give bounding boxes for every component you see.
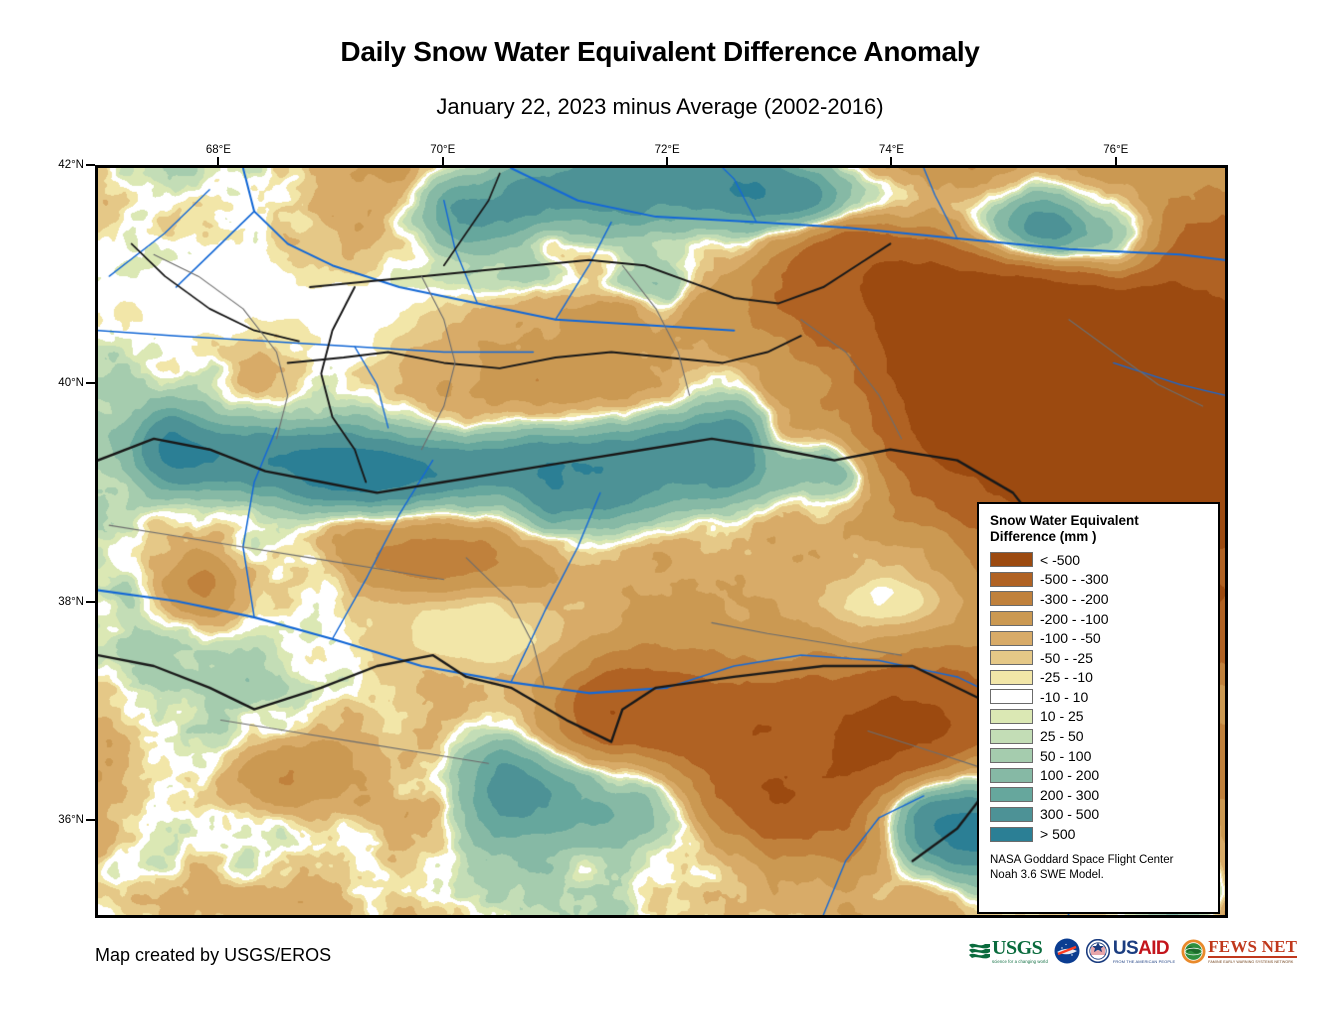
legend-color-swatch <box>990 631 1033 646</box>
legend-class-label: -500 - -300 <box>1040 571 1108 587</box>
lon-tick-label: 76°E <box>1103 144 1128 156</box>
legend-class-label: 50 - 100 <box>1040 748 1091 764</box>
lon-tick-mark <box>666 157 668 166</box>
usgs-logo: USGS science for a changing world <box>968 937 1048 965</box>
fews-globe-icon <box>1181 939 1206 964</box>
legend-row: -25 - -10 <box>990 668 1208 688</box>
page-title: Daily Snow Water Equivalent Difference A… <box>0 36 1320 68</box>
legend-class-label: -10 - 10 <box>1040 689 1088 705</box>
legend-class-label: -200 - -100 <box>1040 611 1108 627</box>
legend-class-label: 300 - 500 <box>1040 806 1099 822</box>
legend-row: < -500 <box>990 550 1208 570</box>
legend-row: 300 - 500 <box>990 805 1208 825</box>
legend-color-swatch <box>990 650 1033 665</box>
footer-credit: Map created by USGS/EROS <box>95 945 331 966</box>
legend-class-label: -100 - -50 <box>1040 630 1101 646</box>
lon-tick-mark <box>442 157 444 166</box>
lat-tick-mark <box>86 819 95 821</box>
legend-class-label: 100 - 200 <box>1040 767 1099 783</box>
usaid-seal-icon <box>1086 939 1110 963</box>
lat-tick-label: 40°N <box>40 377 84 389</box>
legend-row: 200 - 300 <box>990 785 1208 805</box>
fews-net-logo: FEWS NET FAMINE EARLY WARNING SYSTEMS NE… <box>1181 937 1297 965</box>
usaid-tagline: FROM THE AMERICAN PEOPLE <box>1113 959 1175 964</box>
usaid-wordmark-aid: AID <box>1138 938 1169 959</box>
lat-tick-mark <box>86 601 95 603</box>
legend-panel: Snow Water Equivalent Difference (mm ) <… <box>977 502 1220 914</box>
fews-net-tagline: FAMINE EARLY WARNING SYSTEMS NETWORK <box>1208 960 1297 964</box>
usaid-wordmark-us: US <box>1113 938 1138 959</box>
legend-color-swatch <box>990 807 1033 822</box>
fews-net-rule <box>1208 956 1297 958</box>
legend-class-label: > 500 <box>1040 826 1075 842</box>
lon-tick-mark <box>890 157 892 166</box>
legend-class-list: < -500-500 - -300-300 - -200-200 - -100-… <box>990 550 1208 844</box>
legend-class-label: -300 - -200 <box>1040 591 1108 607</box>
legend-color-swatch <box>990 572 1033 587</box>
legend-color-swatch <box>990 709 1033 724</box>
lat-tick-label: 36°N <box>40 814 84 826</box>
lat-tick-mark <box>86 382 95 384</box>
usgs-wave-icon <box>968 941 992 961</box>
legend-row: -200 - -100 <box>990 609 1208 629</box>
legend-color-swatch <box>990 827 1033 842</box>
legend-row: 50 - 100 <box>990 746 1208 766</box>
lon-tick-mark <box>1115 157 1117 166</box>
lon-tick-label: 68°E <box>206 144 231 156</box>
legend-source-note: NASA Goddard Space Flight Center Noah 3.… <box>990 853 1208 882</box>
page-subtitle: January 22, 2023 minus Average (2002-201… <box>0 94 1320 120</box>
lat-tick-mark <box>86 164 95 166</box>
lon-tick-label: 70°E <box>430 144 455 156</box>
fews-net-wordmark: FEWS NET <box>1208 938 1297 955</box>
lon-tick-label: 72°E <box>655 144 680 156</box>
legend-row: -10 - 10 <box>990 687 1208 707</box>
legend-row: -100 - -50 <box>990 628 1208 648</box>
legend-row: -300 - -200 <box>990 589 1208 609</box>
legend-row: -500 - -300 <box>990 570 1208 590</box>
lat-tick-label: 38°N <box>40 596 84 608</box>
legend-row: > 500 <box>990 824 1208 844</box>
legend-color-swatch <box>990 787 1033 802</box>
legend-class-label: 200 - 300 <box>1040 787 1099 803</box>
logo-bar: USGS science for a changing world USAID … <box>968 936 1297 966</box>
legend-class-label: -50 - -25 <box>1040 650 1093 666</box>
legend-class-label: 10 - 25 <box>1040 708 1084 724</box>
nasa-logo <box>1054 937 1080 965</box>
nasa-meatball-icon <box>1054 938 1080 964</box>
legend-row: 25 - 50 <box>990 726 1208 746</box>
legend-color-swatch <box>990 729 1033 744</box>
legend-color-swatch <box>990 591 1033 606</box>
legend-color-swatch <box>990 552 1033 567</box>
legend-color-swatch <box>990 611 1033 626</box>
legend-color-swatch <box>990 768 1033 783</box>
usgs-tagline: science for a changing world <box>992 959 1048 964</box>
usgs-wordmark: USGS <box>992 938 1048 958</box>
legend-row: -50 - -25 <box>990 648 1208 668</box>
usaid-logo: USAID FROM THE AMERICAN PEOPLE <box>1086 937 1175 965</box>
legend-class-label: 25 - 50 <box>1040 728 1084 744</box>
legend-title: Snow Water Equivalent Difference (mm ) <box>990 513 1208 546</box>
lat-tick-label: 42°N <box>40 159 84 171</box>
lon-tick-label: 74°E <box>879 144 904 156</box>
legend-class-label: < -500 <box>1040 552 1080 568</box>
legend-color-swatch <box>990 748 1033 763</box>
legend-class-label: -25 - -10 <box>1040 669 1093 685</box>
legend-row: 10 - 25 <box>990 707 1208 727</box>
lon-tick-mark <box>217 157 219 166</box>
legend-color-swatch <box>990 670 1033 685</box>
legend-row: 100 - 200 <box>990 765 1208 785</box>
legend-color-swatch <box>990 689 1033 704</box>
